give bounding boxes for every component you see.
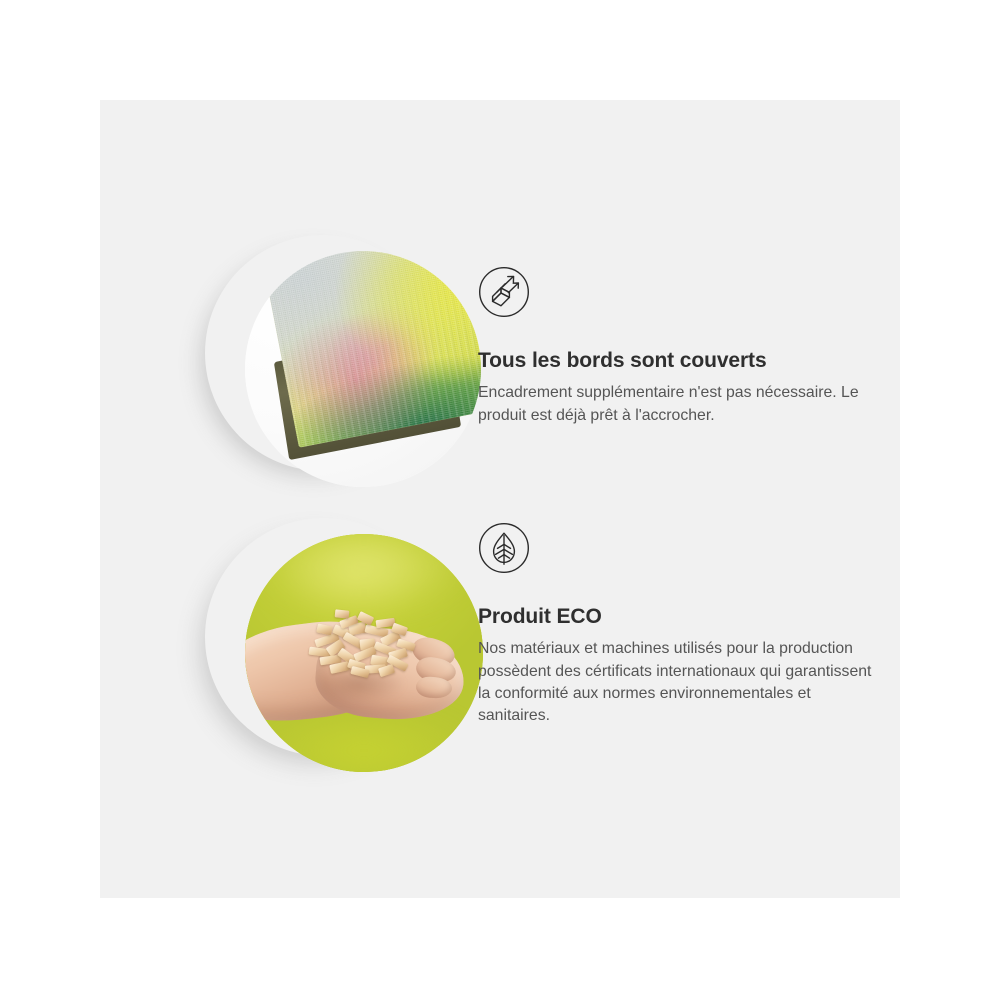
wood-chip xyxy=(335,610,350,620)
wood-chip xyxy=(316,623,333,635)
canvas-corner-photo xyxy=(245,251,481,487)
feature-block-eco-product: Produit ECO Nos matériaux et machines ut… xyxy=(100,500,900,790)
leaf-icon xyxy=(478,522,530,574)
feature-description: Nos matériaux et machines utilisés pour … xyxy=(478,638,876,728)
canvas-weave-texture xyxy=(261,251,481,448)
page-root: Tous les bords sont couverts Encadrement… xyxy=(0,0,1000,1000)
feature-title: Tous les bords sont couverts xyxy=(478,348,878,373)
feature-description: Encadrement supplémentaire n'est pas néc… xyxy=(478,382,870,427)
features-panel: Tous les bords sont couverts Encadrement… xyxy=(100,100,900,898)
wood-chips-in-hands-photo xyxy=(245,534,483,772)
eco-photo-scene xyxy=(245,534,483,772)
feature-text-column-1: Tous les bords sont couverts Encadrement… xyxy=(478,266,878,427)
canvas-printed-face xyxy=(261,251,481,448)
canvas-wrapped-edges-icon xyxy=(478,266,530,318)
wood-chip-pile xyxy=(307,596,436,686)
canvas-photo-backdrop xyxy=(245,251,481,487)
feature-text-column-2: Produit ECO Nos matériaux et machines ut… xyxy=(478,522,878,728)
feature-block-edges-covered: Tous les bords sont couverts Encadrement… xyxy=(100,210,900,490)
feature-title: Produit ECO xyxy=(478,604,878,629)
